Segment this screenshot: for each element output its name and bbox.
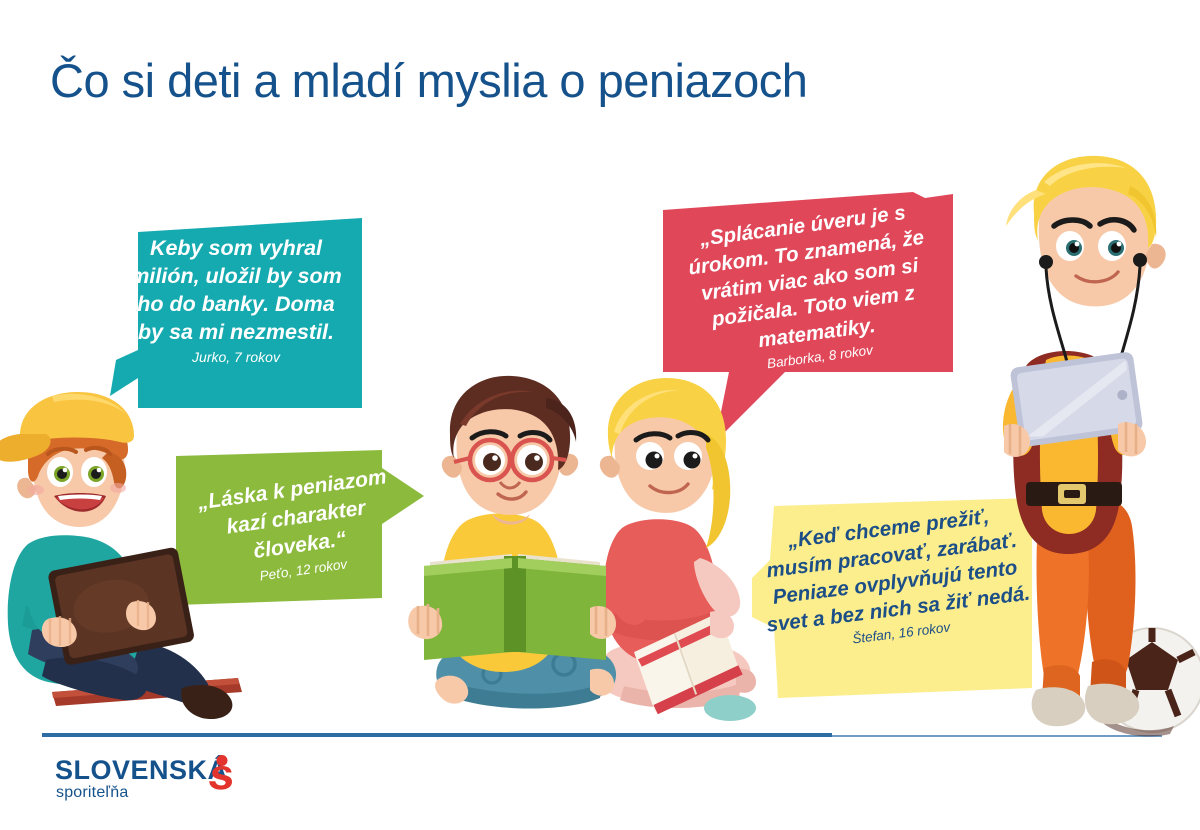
kids-reading-books — [400, 378, 790, 740]
logo-wordmark: SLOVENSKÁ — [55, 757, 228, 784]
bubble-text-teal: Keby som vyhral milión, uložil by som ho… — [122, 234, 350, 367]
page-title: Čo si deti a mladí myslia o peniazoch — [50, 52, 807, 110]
logo-subtitle: sporiteľňa — [56, 785, 128, 801]
bubble-quote: Keby som vyhral milión, uložil by som ho… — [122, 234, 350, 346]
speech-bubble-teal[interactable]: Keby som vyhral milión, uložil by som ho… — [110, 218, 362, 408]
teen-with-tablet-and-football — [1002, 162, 1200, 740]
erste-s-icon — [205, 755, 239, 791]
speech-bubble-yellow[interactable]: „Keď chceme prežiť, musím pracovať, zará… — [752, 498, 1032, 698]
slide-canvas: Keby som vyhral milión, uložil by som ho… — [0, 0, 1200, 830]
logo[interactable]: SLOVENSKÁ sporiteľňa — [55, 757, 285, 803]
bubble-attribution: Jurko, 7 rokov — [122, 347, 350, 367]
